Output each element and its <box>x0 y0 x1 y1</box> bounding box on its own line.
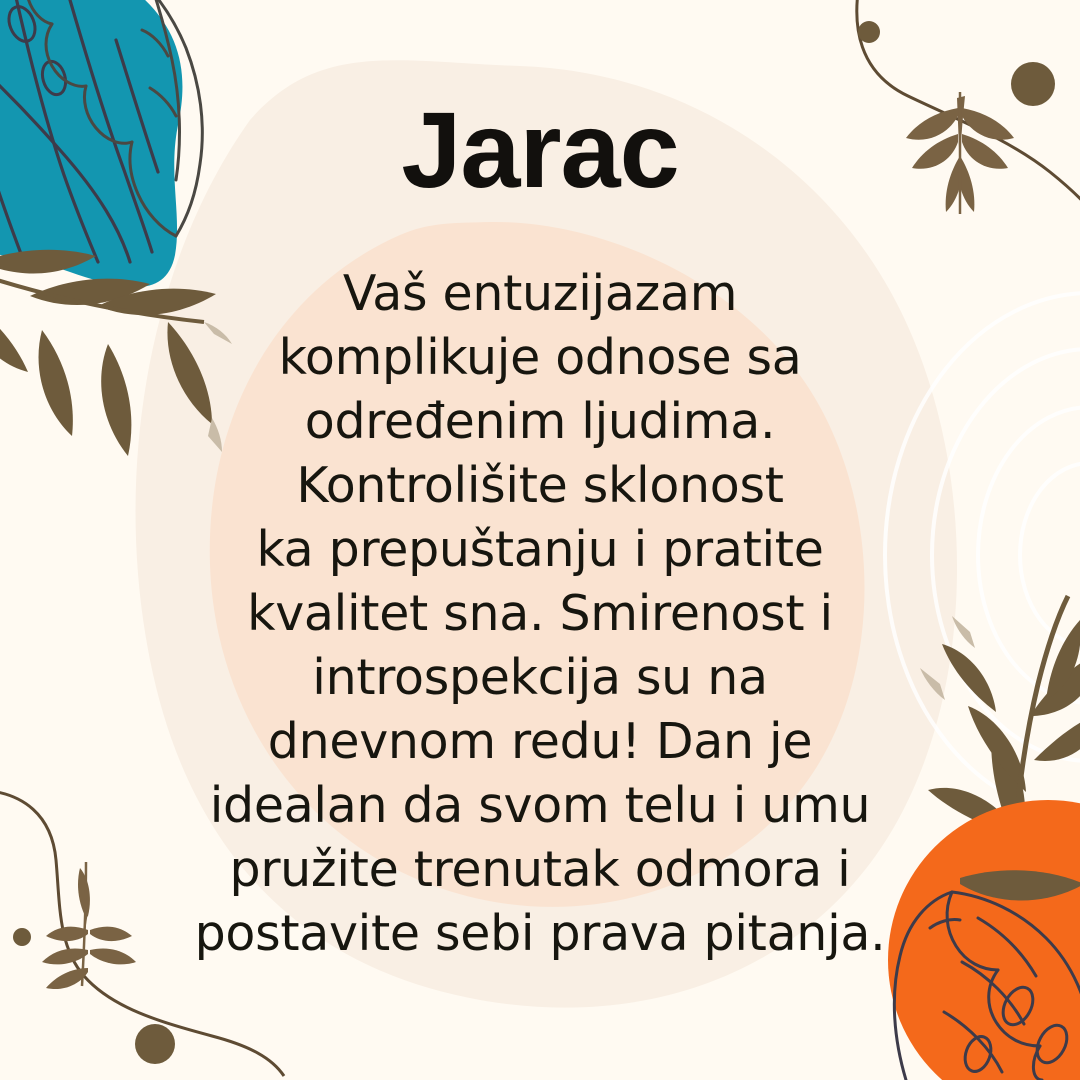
poster-content: Jarac Vaš entuzijazamkomplikuje odnose s… <box>0 0 1080 1080</box>
horoscope-line: idealan da svom telu i umu <box>170 774 910 838</box>
horoscope-line: Vaš entuzijazam <box>170 262 910 326</box>
horoscope-line: komplikuje odnose sa <box>170 326 910 390</box>
horoscope-line: određenim ljudima. <box>170 390 910 454</box>
horoscope-line: kvalitet sna. Smirenost i <box>170 582 910 646</box>
page-title: Jarac <box>0 96 1080 204</box>
horoscope-text: Vaš entuzijazamkomplikuje odnose saodređ… <box>170 262 910 966</box>
horoscope-line: pružite trenutak odmora i <box>170 838 910 902</box>
horoscope-line: postavite sebi prava pitanja. <box>170 902 910 966</box>
horoscope-line: ka prepuštanju i pratite <box>170 518 910 582</box>
horoscope-line: Kontrolišite sklonost <box>170 454 910 518</box>
horoscope-poster: Jarac Vaš entuzijazamkomplikuje odnose s… <box>0 0 1080 1080</box>
horoscope-line: introspekcija su na <box>170 646 910 710</box>
horoscope-line: dnevnom redu! Dan je <box>170 710 910 774</box>
